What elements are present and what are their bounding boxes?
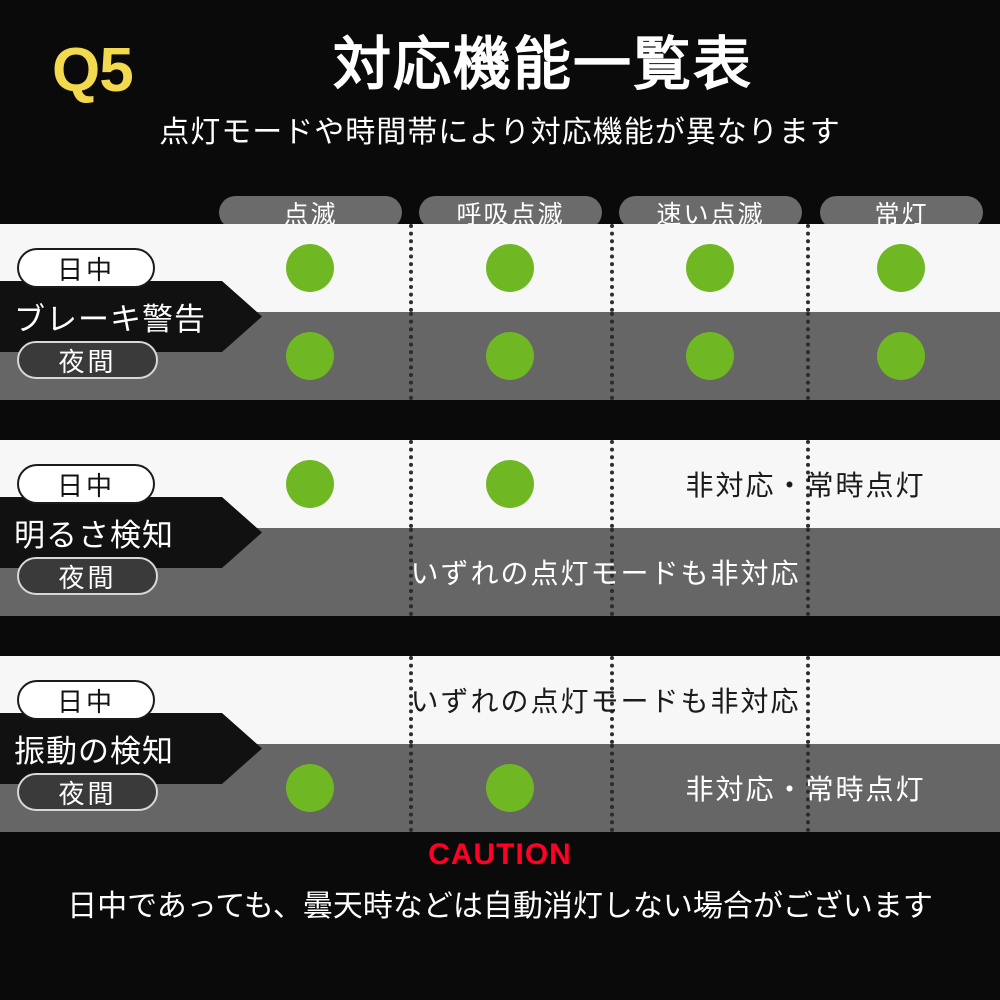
column-separator [409, 224, 413, 312]
supported-dot [686, 332, 734, 380]
feature-label-block: ブレーキ警告日中夜間 [0, 224, 300, 400]
unsupported-note: 非対応・常時点灯 [306, 768, 1000, 808]
nighttime-pill: 夜間 [17, 341, 158, 379]
feature-section: ブレーキ警告日中夜間 [0, 224, 1000, 400]
column-separator [610, 224, 614, 312]
supported-dot [686, 244, 734, 292]
daytime-pill: 日中 [17, 464, 155, 504]
column-separator [806, 312, 810, 400]
feature-label-block: 明るさ検知日中夜間 [0, 440, 300, 616]
daytime-pill: 日中 [17, 680, 155, 720]
nighttime-pill: 夜間 [17, 773, 158, 811]
feature-section: いずれの点灯モードも非対応非対応・常時点灯振動の検知日中夜間 [0, 656, 1000, 832]
caution-block: CAUTION 日中であっても、曇天時などは自動消灯しない場合がございます [0, 840, 1000, 922]
supported-dot [877, 332, 925, 380]
caution-text: 日中であっても、曇天時などは自動消灯しない場合がございます [0, 892, 1000, 922]
unsupported-note: 非対応・常時点灯 [306, 464, 1000, 504]
infographic-root: Q5 対応機能一覧表 点灯モードや時間帯により対応機能が異なります 点滅呼吸点滅… [0, 0, 1000, 1000]
column-separator [409, 312, 413, 400]
daytime-pill: 日中 [17, 248, 155, 288]
header: Q5 対応機能一覧表 点灯モードや時間帯により対応機能が異なります [0, 0, 1000, 178]
nighttime-pill: 夜間 [17, 557, 158, 595]
feature-section: 非対応・常時点灯いずれの点灯モードも非対応明るさ検知日中夜間 [0, 440, 1000, 616]
supported-dot [486, 332, 534, 380]
column-separator [806, 224, 810, 312]
feature-label-block: 振動の検知日中夜間 [0, 656, 300, 832]
page-title: 対応機能一覧表 [0, 36, 1000, 94]
page-subtitle: 点灯モードや時間帯により対応機能が異なります [0, 118, 1000, 148]
caution-title: CAUTION [0, 840, 1000, 870]
supported-dot [486, 244, 534, 292]
column-separator [610, 312, 614, 400]
supported-dot [877, 244, 925, 292]
